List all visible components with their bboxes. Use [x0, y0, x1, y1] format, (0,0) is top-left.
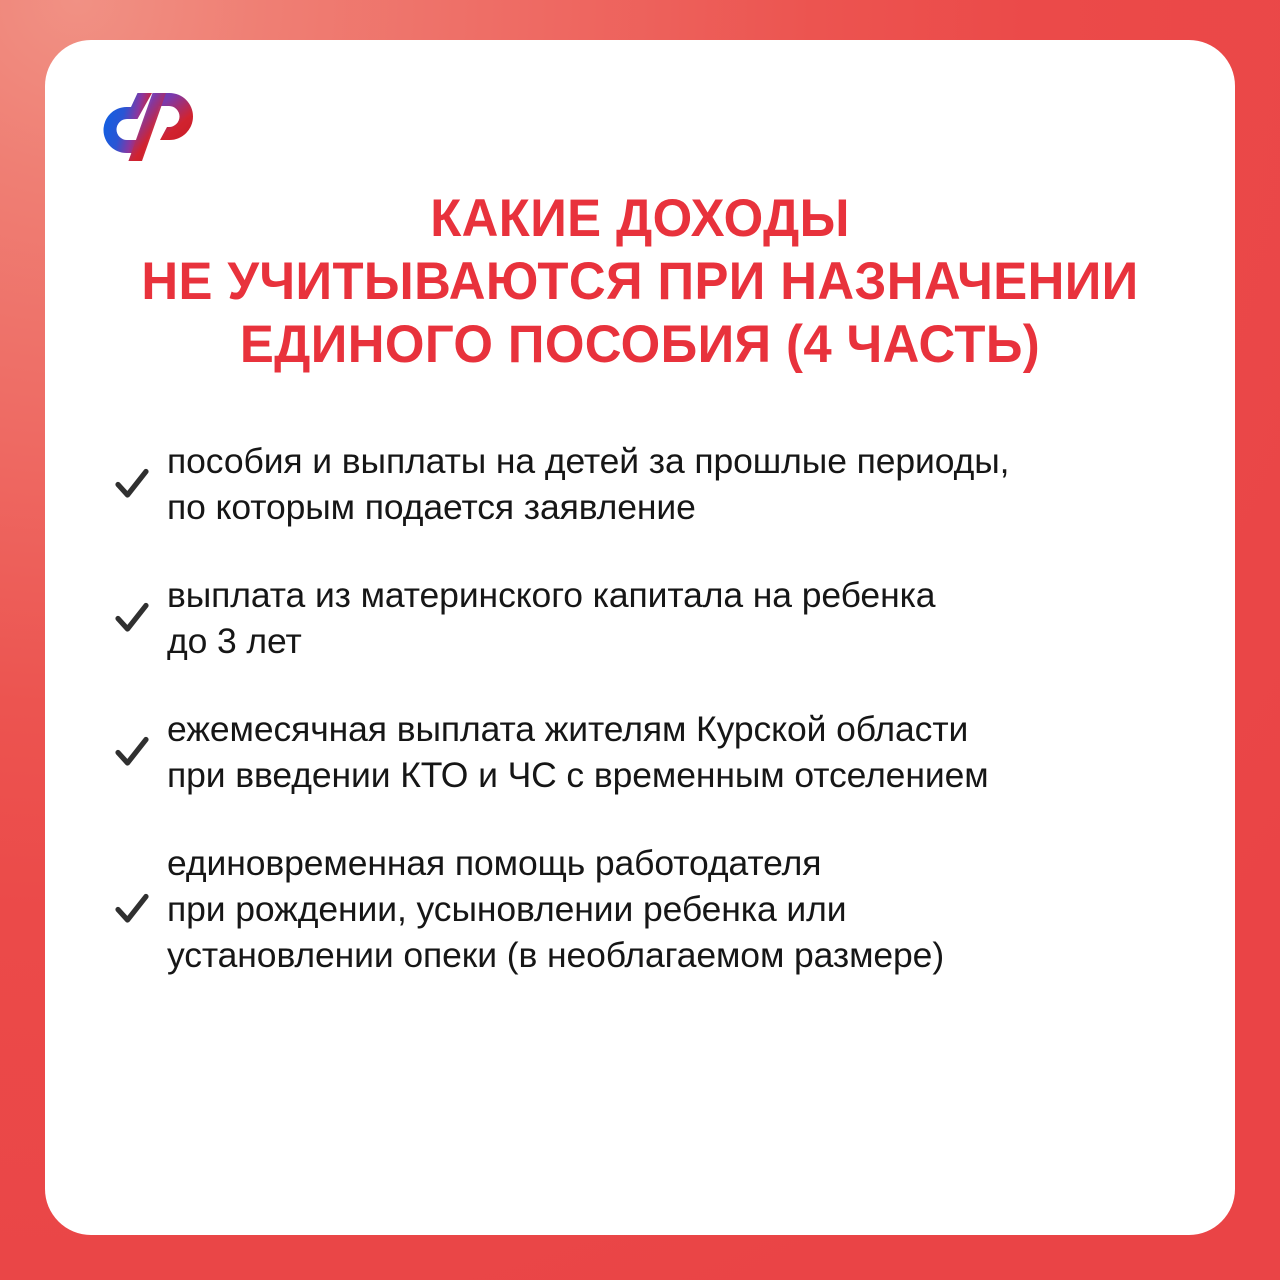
- check-icon: [109, 467, 155, 501]
- poster-background: КАКИЕ ДОХОДЫ НЕ УЧИТЫВАЮТСЯ ПРИ НАЗНАЧЕН…: [0, 0, 1280, 1280]
- list-item: единовременная помощь работодателя при р…: [109, 840, 1179, 978]
- list-item-line: ежемесячная выплата жителям Курской обла…: [167, 706, 1179, 752]
- list-item-line: до 3 лет: [167, 618, 1179, 664]
- list-item: ежемесячная выплата жителям Курской обла…: [109, 706, 1179, 798]
- sfr-logo: [97, 85, 201, 163]
- list-item-line: по которым подается заявление: [167, 484, 1179, 530]
- list-item-text: пособия и выплаты на детей за прошлые пе…: [167, 438, 1179, 530]
- list-item-line: при введении КТО и ЧС с временным отселе…: [167, 752, 1179, 798]
- list-item: выплата из материнского капитала на ребе…: [109, 572, 1179, 664]
- title-line-3: ЕДИНОГО ПОСОБИЯ (4 ЧАСТЬ): [124, 313, 1155, 376]
- check-icon: [109, 735, 155, 769]
- list-item-text: единовременная помощь работодателя при р…: [167, 840, 1179, 978]
- bullet-list: пособия и выплаты на детей за прошлые пе…: [95, 438, 1185, 978]
- list-item-line: установлении опеки (в необлагаемом разме…: [167, 932, 1179, 978]
- list-item: пособия и выплаты на детей за прошлые пе…: [109, 438, 1179, 530]
- list-item-line: выплата из материнского капитала на ребе…: [167, 572, 1179, 618]
- page-title: КАКИЕ ДОХОДЫ НЕ УЧИТЫВАЮТСЯ ПРИ НАЗНАЧЕН…: [95, 169, 1185, 376]
- check-icon: [109, 601, 155, 635]
- check-icon: [109, 892, 155, 926]
- title-line-1: КАКИЕ ДОХОДЫ: [124, 187, 1155, 250]
- list-item-line: при рождении, усыновлении ребенка или: [167, 886, 1179, 932]
- list-item-line: единовременная помощь работодателя: [167, 840, 1179, 886]
- content-card: КАКИЕ ДОХОДЫ НЕ УЧИТЫВАЮТСЯ ПРИ НАЗНАЧЕН…: [45, 40, 1235, 1235]
- list-item-line: пособия и выплаты на детей за прошлые пе…: [167, 438, 1179, 484]
- list-item-text: ежемесячная выплата жителям Курской обла…: [167, 706, 1179, 798]
- title-line-2: НЕ УЧИТЫВАЮТСЯ ПРИ НАЗНАЧЕНИИ: [124, 250, 1155, 313]
- list-item-text: выплата из материнского капитала на ребе…: [167, 572, 1179, 664]
